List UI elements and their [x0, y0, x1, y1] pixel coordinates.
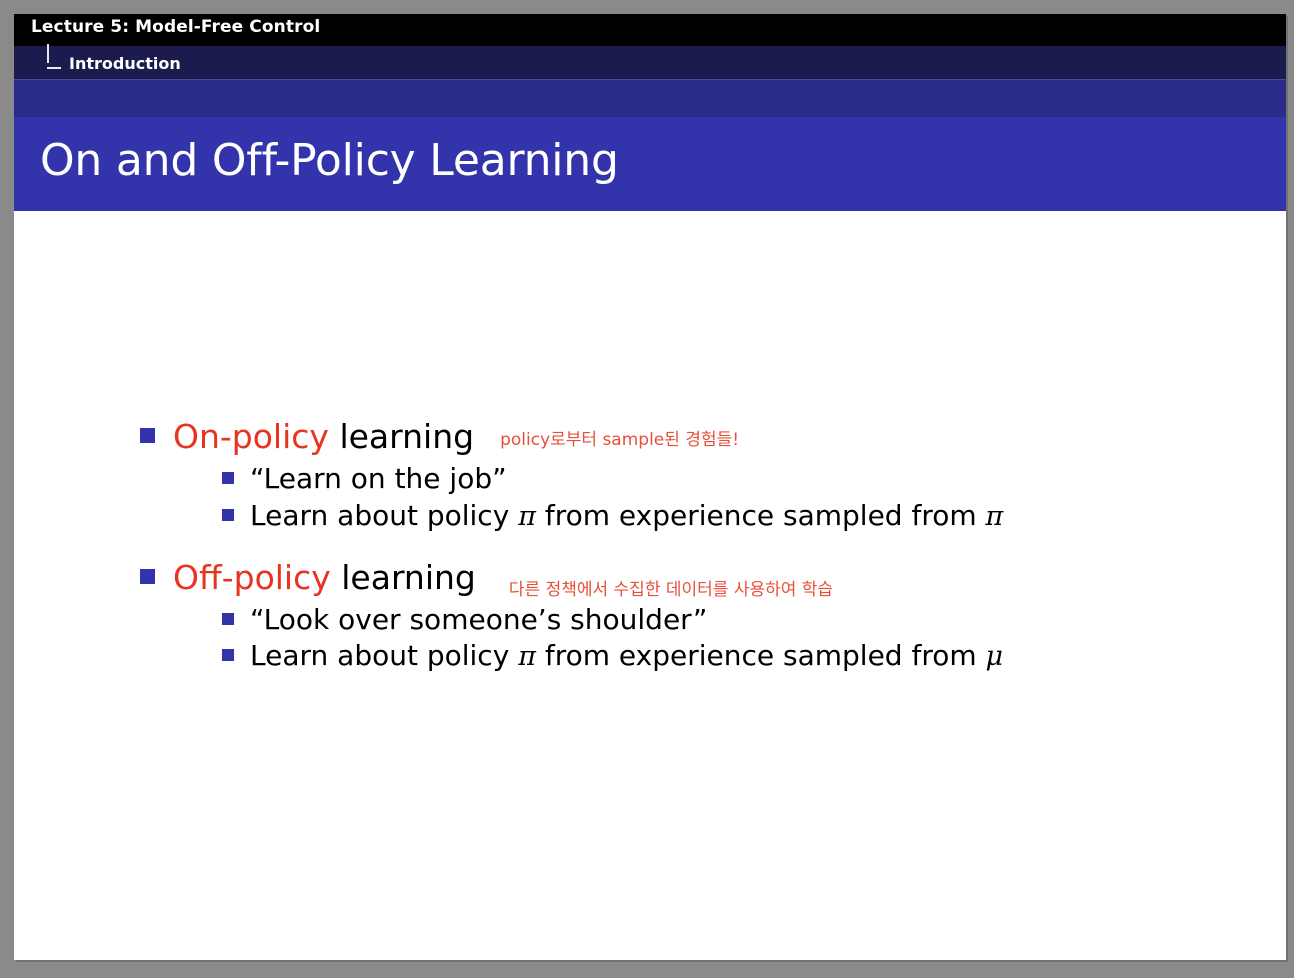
- keyword-on-policy: On-policy: [173, 417, 329, 456]
- page-title: On and Off-Policy Learning: [40, 135, 619, 186]
- slide-body: On-policy learning policy로부터 sample된 경험들…: [14, 211, 1286, 960]
- subsection-nav-entry[interactable]: Introduction: [47, 49, 181, 73]
- sub-text-pre: “Learn on the job”: [250, 462, 507, 495]
- math-symbol-pi: π: [518, 501, 536, 532]
- keyword-off-policy: Off-policy: [173, 558, 331, 597]
- list-item: Learn about policy π from experience sam…: [222, 499, 1220, 533]
- sub-text-mid: from experience sampled from: [536, 499, 986, 532]
- presentation-slide: Lecture 5: Model-Free Control Introducti…: [14, 14, 1286, 960]
- sub-text-pre: “Look over someone’s shoulder”: [250, 603, 707, 636]
- bullet-square-icon: [222, 613, 234, 625]
- bullet-level1-text: Off-policy learning: [173, 560, 476, 597]
- annotation-on-policy: policy로부터 sample된 경험들!: [500, 425, 739, 450]
- list-item: “Look over someone’s shoulder”: [222, 603, 1220, 637]
- list-item: Off-policy learning 다른 정책에서 수집한 데이터를 사용하…: [140, 560, 1220, 597]
- annotation-off-policy: 다른 정책에서 수집한 데이터를 사용하여 학습: [509, 575, 833, 600]
- bullet-level1-rest: learning: [329, 417, 474, 456]
- bullet-level1-text: On-policy learning: [173, 419, 474, 456]
- list-item: On-policy learning policy로부터 sample된 경험들…: [140, 419, 1220, 456]
- bullet-level1-rest: learning: [331, 558, 476, 597]
- list-item: “Learn on the job”: [222, 462, 1220, 496]
- bullet-list: On-policy learning policy로부터 sample된 경험들…: [140, 419, 1220, 677]
- header-accent-band: [14, 79, 1286, 117]
- header-subsection-bar[interactable]: Introduction: [14, 46, 1286, 79]
- sub-text-mid: from experience sampled from: [536, 639, 986, 672]
- sub-bullet-list: “Look over someone’s shoulder” Learn abo…: [140, 603, 1220, 674]
- math-symbol-pi: π: [986, 501, 1004, 532]
- bullet-square-icon: [222, 509, 234, 521]
- bullet-level2-text: Learn about policy π from experience sam…: [250, 639, 1003, 673]
- slide-viewer: Lecture 5: Model-Free Control Introducti…: [0, 0, 1294, 978]
- bullet-square-icon: [140, 569, 155, 584]
- bullet-level2-text: Learn about policy π from experience sam…: [250, 499, 1003, 533]
- sub-text-pre: Learn about policy: [250, 499, 518, 532]
- subsection-label: Introduction: [69, 54, 181, 73]
- sub-bullet-list: “Learn on the job” Learn about policy π …: [140, 462, 1220, 533]
- sub-text-pre: Learn about policy: [250, 639, 518, 672]
- math-symbol-pi: π: [518, 641, 536, 672]
- bullet-square-icon: [222, 649, 234, 661]
- list-item: Learn about policy π from experience sam…: [222, 639, 1220, 673]
- bullet-square-icon: [222, 472, 234, 484]
- header-lecture-bar: Lecture 5: Model-Free Control: [14, 14, 1286, 46]
- bullet-square-icon: [140, 428, 155, 443]
- math-symbol-mu: μ: [986, 641, 1004, 672]
- frame-title-bar: On and Off-Policy Learning: [14, 117, 1286, 211]
- tree-branch-icon: [47, 50, 67, 70]
- bullet-level2-text: “Look over someone’s shoulder”: [250, 603, 707, 637]
- bullet-level2-text: “Learn on the job”: [250, 462, 507, 496]
- lecture-title: Lecture 5: Model-Free Control: [31, 17, 320, 37]
- group-spacer: [140, 536, 1220, 560]
